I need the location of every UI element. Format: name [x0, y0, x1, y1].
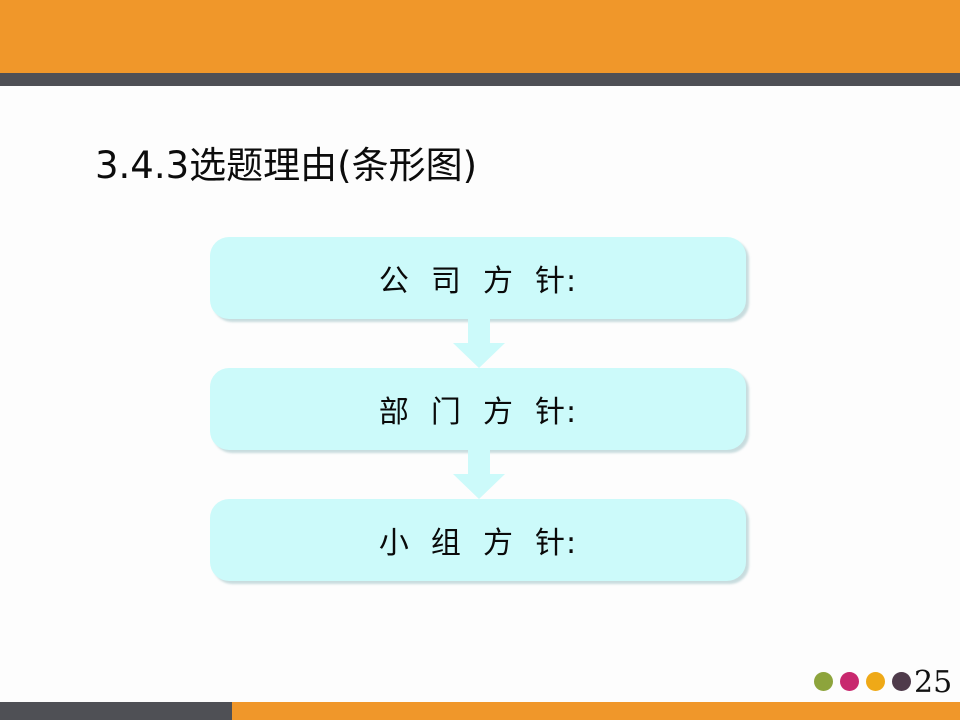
top-orange-band — [0, 0, 960, 73]
bottom-gray-rule — [0, 702, 232, 720]
page-title: 3.4.3选题理由(条形图) — [95, 142, 477, 190]
decorative-dots — [814, 672, 910, 694]
slide-canvas: 3.4.3选题理由(条形图) 公 司 方 针: 部 门 方 针: 小 组 方 针… — [0, 0, 960, 720]
flow-box-department-policy: 部 门 方 针: — [210, 368, 746, 450]
dot-olive-icon — [814, 672, 833, 691]
top-gray-rule — [0, 73, 960, 86]
flow-box-company-policy: 公 司 方 针: — [210, 237, 746, 319]
flow-box-team-policy: 小 组 方 针: — [210, 499, 746, 581]
arrow-down-icon — [453, 313, 505, 368]
dot-magenta-icon — [840, 672, 859, 691]
flow-box-label: 部 门 方 针: — [210, 368, 746, 450]
page-number: 25 — [914, 666, 952, 700]
flow-box-label: 公 司 方 针: — [210, 237, 746, 319]
arrow-down-icon — [453, 444, 505, 499]
bottom-orange-band — [232, 702, 960, 720]
dot-amber-icon — [866, 672, 885, 691]
dot-plum-icon — [892, 672, 911, 691]
flow-box-label: 小 组 方 针: — [210, 499, 746, 581]
policy-deployment-flow-diagram: 公 司 方 针: 部 门 方 针: 小 组 方 针: — [210, 237, 746, 582]
